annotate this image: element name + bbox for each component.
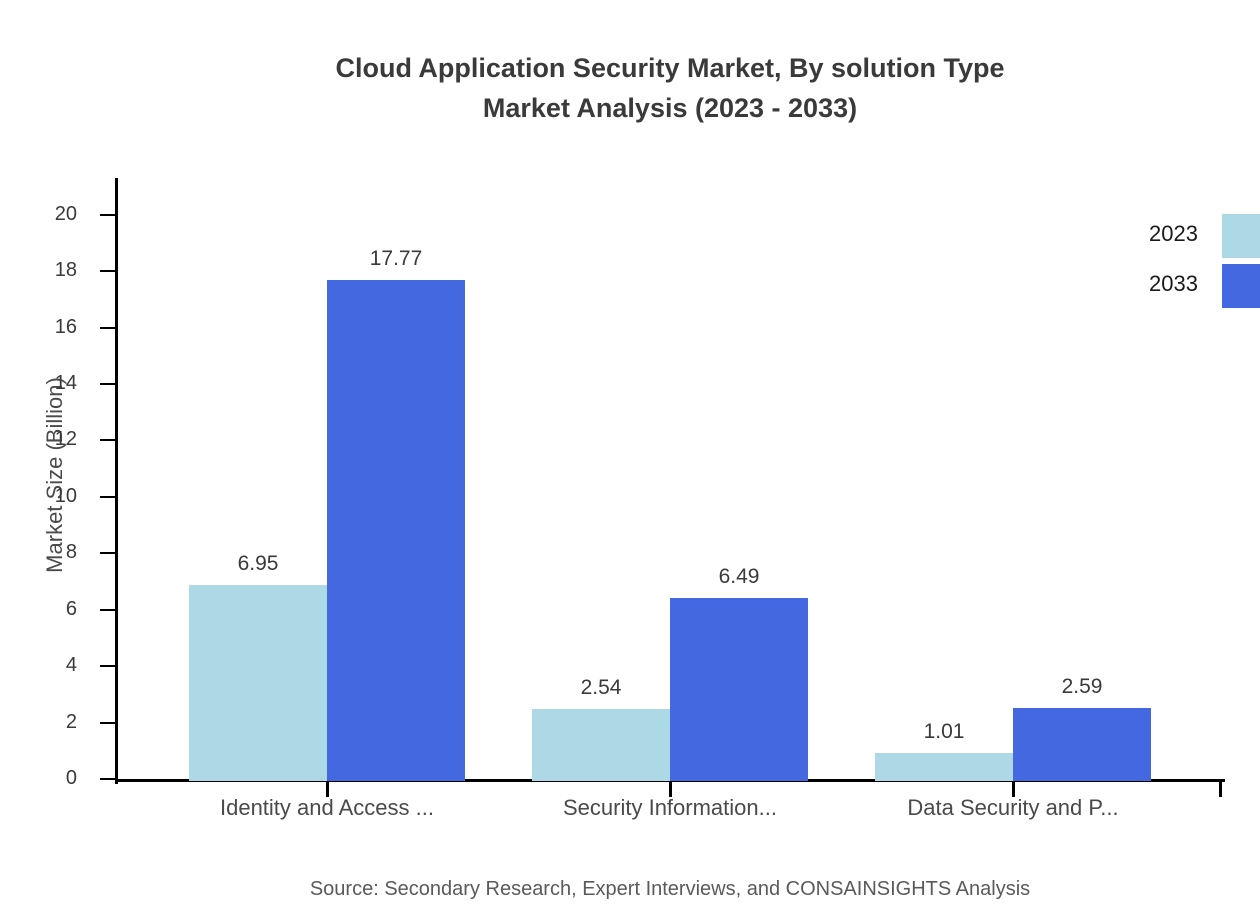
bar-value-label-2023-1: 2.54 <box>521 676 681 700</box>
y-tick-0 <box>100 778 115 780</box>
bar-value-label-2023-0: 6.95 <box>178 552 338 576</box>
legend-swatch-2023 <box>1222 214 1260 258</box>
y-tick-6 <box>100 609 115 611</box>
x-tick-label-0: Identity and Access ... <box>162 795 492 821</box>
legend-label-2033: 2033 <box>1149 272 1198 296</box>
bar-2023-2[interactable] <box>875 753 1013 781</box>
y-tick-label-4: 4 <box>17 655 77 675</box>
bars-container: 6.952.541.0117.776.492.59 <box>115 178 1225 781</box>
legend-item-2023[interactable]: 2023 <box>1120 214 1260 264</box>
chart-title-line-1: Cloud Application Security Market, By so… <box>0 48 1260 88</box>
page-title: Cloud Application Security Market, By so… <box>0 48 1260 128</box>
chart-title-line-2: Market Analysis (2023 - 2033) <box>0 88 1260 128</box>
bar-value-label-2033-0: 17.77 <box>316 247 476 271</box>
y-tick-label-18: 18 <box>17 260 77 280</box>
y-tick-label-12: 12 <box>17 429 77 449</box>
bar-2033-2[interactable] <box>1013 708 1151 781</box>
legend: 20232033 <box>1120 214 1260 314</box>
y-tick-10 <box>100 496 115 498</box>
bar-value-label-2033-1: 6.49 <box>659 565 819 589</box>
source-note: Source: Secondary Research, Expert Inter… <box>0 878 1260 901</box>
bar-2023-1[interactable] <box>532 709 670 781</box>
legend-swatch-2033 <box>1222 264 1260 308</box>
bar-value-label-2033-2: 2.59 <box>1002 675 1162 699</box>
bar-value-label-2023-2: 1.01 <box>864 720 1024 744</box>
y-tick-label-6: 6 <box>17 599 77 619</box>
y-tick-20 <box>100 214 115 216</box>
y-tick-label-20: 20 <box>17 204 77 224</box>
y-tick-2 <box>100 722 115 724</box>
x-tick-label-2: Data Security and P... <box>848 795 1178 821</box>
y-tick-label-10: 10 <box>17 486 77 506</box>
legend-label-2023: 2023 <box>1149 222 1198 246</box>
x-axis-end-tick <box>1219 782 1222 797</box>
bar-2033-0[interactable] <box>327 280 465 781</box>
y-tick-label-2: 2 <box>17 712 77 732</box>
legend-item-2033[interactable]: 2033 <box>1120 264 1260 314</box>
bar-2033-1[interactable] <box>670 598 808 781</box>
y-axis-title: Market Size (Billion) <box>42 165 68 785</box>
bar-2023-0[interactable] <box>189 585 327 781</box>
y-tick-14 <box>100 383 115 385</box>
y-tick-18 <box>100 270 115 272</box>
y-tick-16 <box>100 327 115 329</box>
y-tick-label-16: 16 <box>17 317 77 337</box>
y-tick-label-8: 8 <box>17 542 77 562</box>
y-tick-label-0: 0 <box>17 768 77 788</box>
x-tick-label-1: Security Information... <box>505 795 835 821</box>
y-tick-4 <box>100 665 115 667</box>
y-tick-12 <box>100 439 115 441</box>
y-tick-8 <box>100 552 115 554</box>
y-tick-label-14: 14 <box>17 373 77 393</box>
